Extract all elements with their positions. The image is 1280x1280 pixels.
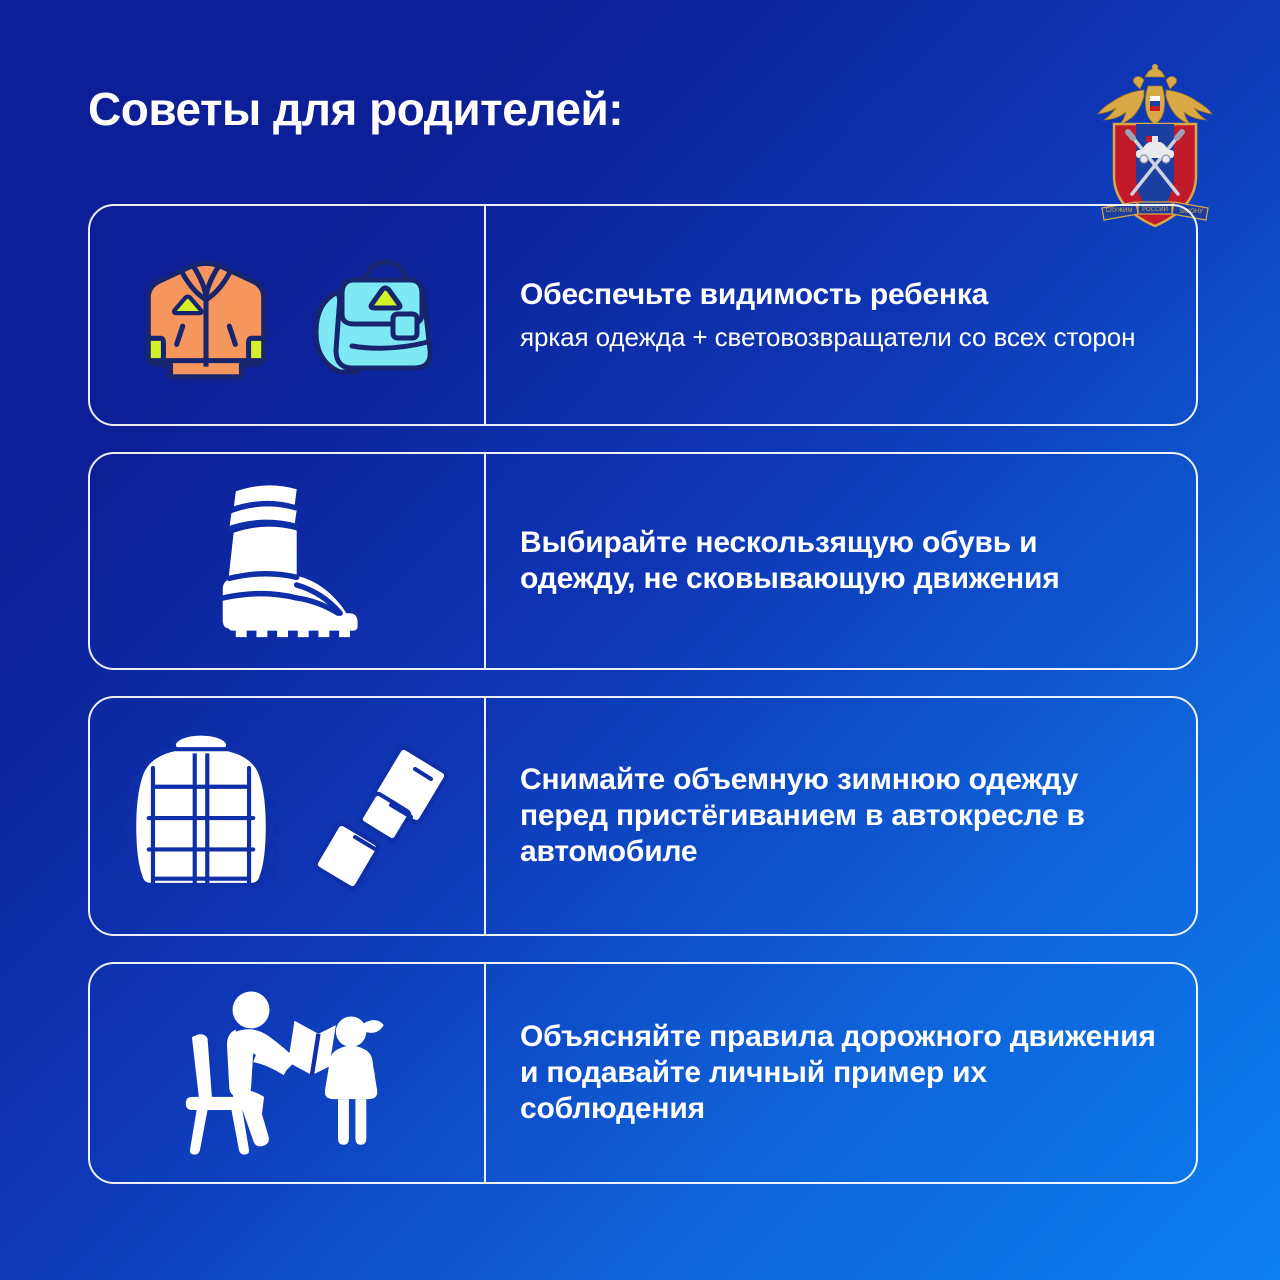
winter-boot-icon — [190, 474, 386, 648]
advice-card[interactable]: Снимайте объемную зимнюю одежду перед пр… — [88, 696, 1198, 936]
card-icon-area — [90, 964, 486, 1182]
double-headed-eagle-icon — [1098, 64, 1212, 124]
page-title: Советы для родителей: — [88, 82, 623, 136]
card-subtext: яркая одежда + световозвращатели со всех… — [520, 321, 1156, 353]
card-text-area: Обеспечьте видимость ребенка яркая одежд… — [486, 206, 1196, 424]
card-text-area: Выбирайте нескользящую обувь и одежду, н… — [486, 454, 1196, 668]
reflector-cuff-left-icon — [148, 338, 163, 360]
jacket-reflective-icon — [130, 239, 282, 391]
advice-card[interactable]: Объясняйте правила дорожного движения и … — [88, 962, 1198, 1184]
card-heading: Снимайте объемную зимнюю одежду перед пр… — [520, 762, 1156, 870]
card-icon-area — [90, 206, 486, 424]
backpack-buckle-icon — [393, 314, 417, 338]
puffer-jacket-icon — [117, 722, 285, 910]
advice-card[interactable]: Выбирайте нескользящую обувь и одежду, н… — [88, 452, 1198, 670]
card-icon-area — [90, 698, 486, 934]
backpack-reflective-icon — [296, 240, 446, 390]
card-text-area: Снимайте объемную зимнюю одежду перед пр… — [486, 698, 1196, 934]
reflector-cuff-right-icon — [249, 338, 264, 360]
card-text-area: Объясняйте правила дорожного движения и … — [486, 964, 1196, 1182]
adult-reading-to-child-icon — [179, 986, 397, 1160]
card-heading: Обеспечьте видимость ребенка — [520, 277, 1156, 313]
card-icon-area — [90, 454, 486, 668]
seatbelt-buckle-icon — [299, 731, 459, 901]
card-heading: Выбирайте нескользящую обувь и одежду, н… — [520, 525, 1156, 597]
card-heading: Объясняйте правила дорожного движения и … — [520, 1019, 1156, 1127]
advice-card-list: Обеспечьте видимость ребенка яркая одежд… — [88, 204, 1198, 1210]
advice-card[interactable]: Обеспечьте видимость ребенка яркая одежд… — [88, 204, 1198, 426]
